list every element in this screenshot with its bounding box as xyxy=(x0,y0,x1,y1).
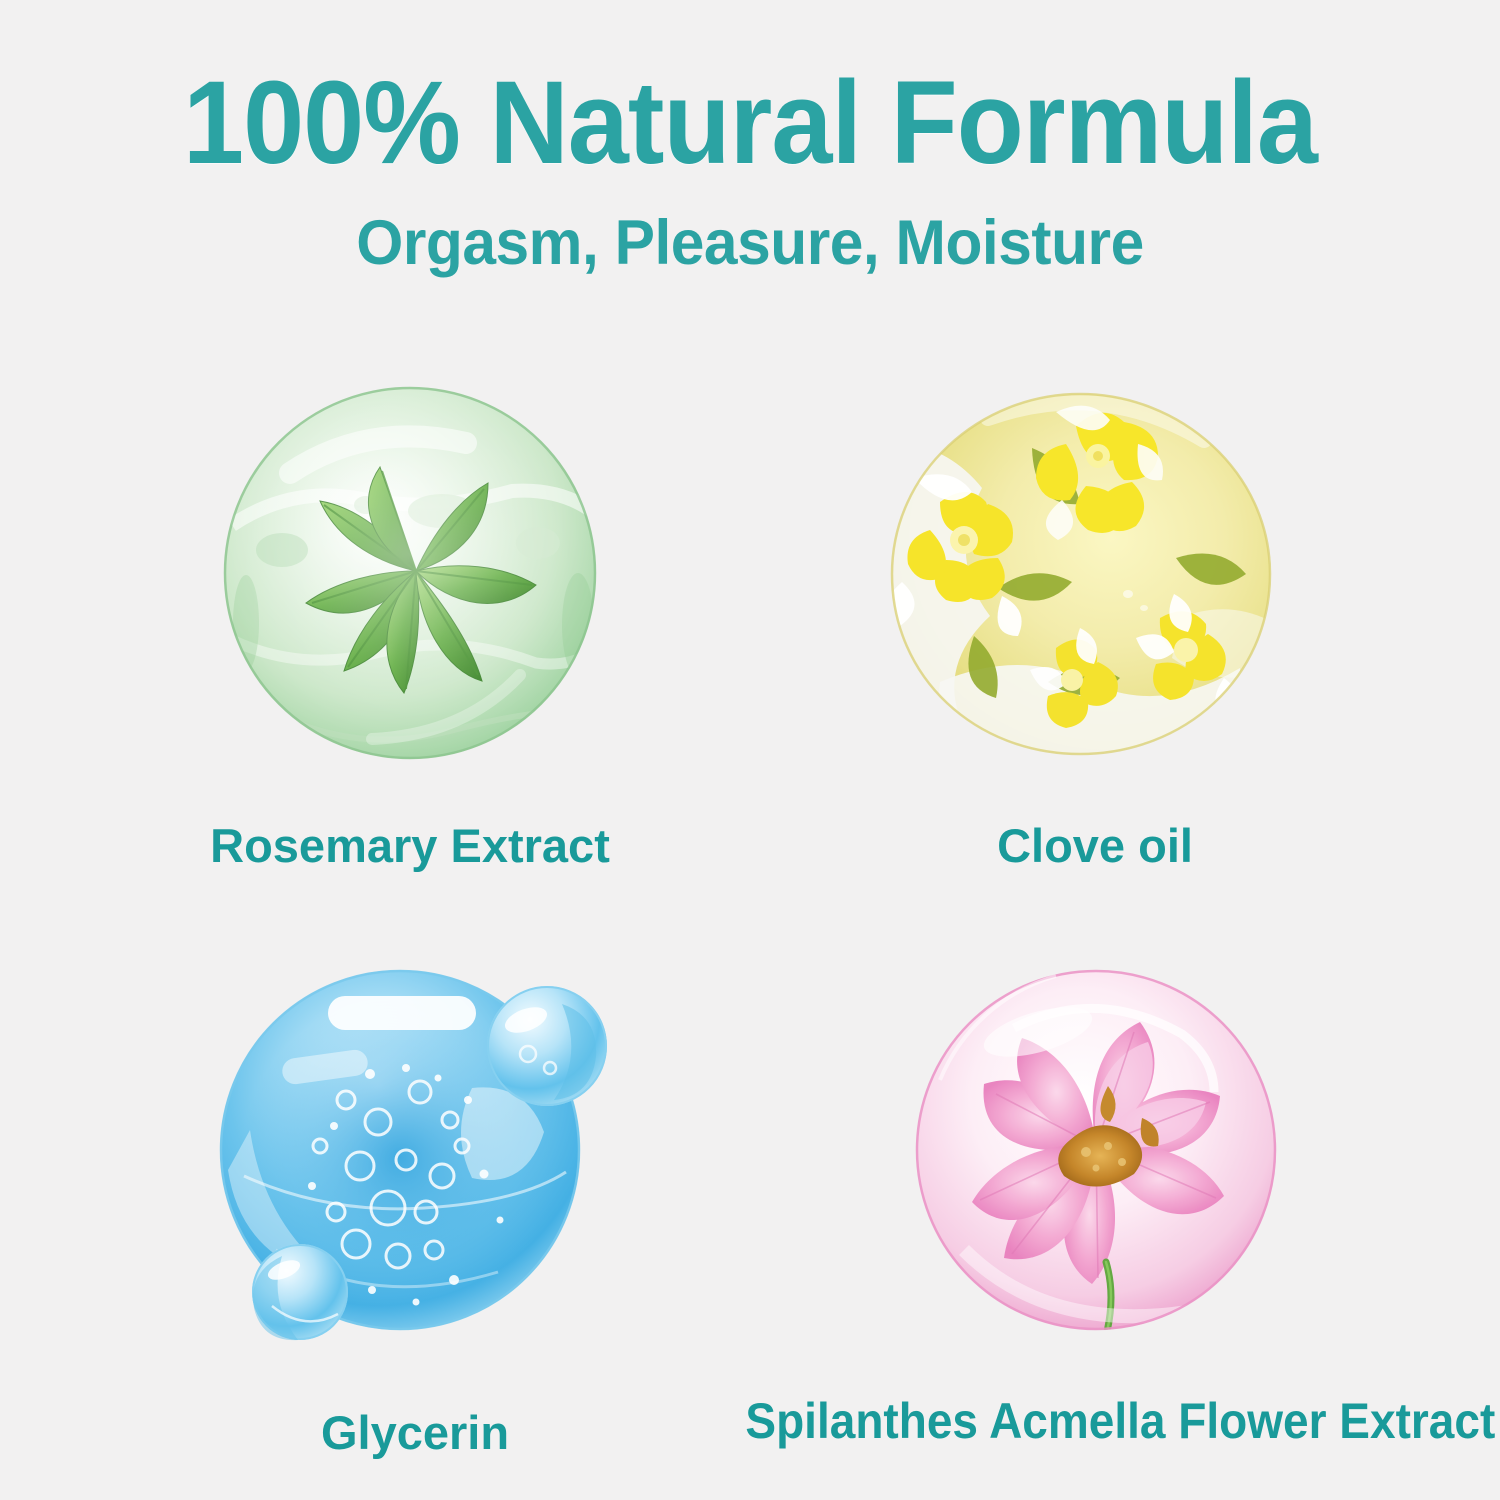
blue-water-bubble-icon xyxy=(210,950,630,1350)
satellite-bubble-top xyxy=(487,986,607,1106)
page-subtitle: Orgasm, Pleasure, Moisture xyxy=(30,207,1470,279)
ingredient-card-rosemary: Rosemary Extract xyxy=(180,370,640,900)
ingredient-card-clove: Clove oil xyxy=(860,370,1320,900)
ingredient-card-spilanthes: Spilanthes Acmella Flower Extract xyxy=(860,950,1330,1480)
ingredient-card-glycerin: Glycerin xyxy=(180,950,650,1480)
yellow-oil-droplet-with-flowers-icon xyxy=(880,382,1280,772)
page-title: 100% Natural Formula xyxy=(53,62,1448,185)
ingredient-label-rosemary: Rosemary Extract xyxy=(180,818,640,873)
green-gel-sphere-with-leaves-icon xyxy=(220,375,600,775)
satellite-bubble-bottom xyxy=(252,1244,348,1340)
pink-flower-sphere-icon xyxy=(910,950,1290,1350)
ingredient-label-clove: Clove oil xyxy=(905,818,1285,873)
infographic-page: 100% Natural Formula Orgasm, Pleasure, M… xyxy=(0,0,1500,1500)
ingredient-label-spilanthes: Spilanthes Acmella Flower Extract xyxy=(745,1392,1444,1450)
header-block: 100% Natural Formula Orgasm, Pleasure, M… xyxy=(0,62,1500,279)
ingredient-label-glycerin: Glycerin xyxy=(225,1405,605,1460)
